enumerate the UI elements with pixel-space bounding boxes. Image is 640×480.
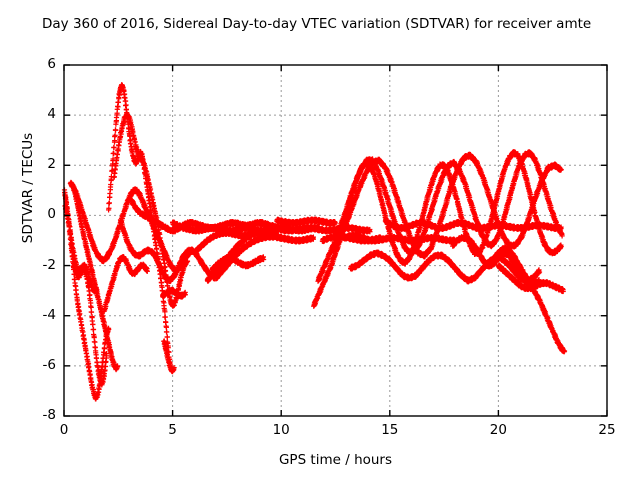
y-tick-label: 0 bbox=[16, 206, 56, 222]
y-tick-label: 4 bbox=[16, 106, 56, 122]
y-tick-label: -2 bbox=[16, 257, 56, 273]
y-tick-label: -4 bbox=[16, 307, 56, 323]
data-points bbox=[62, 82, 567, 402]
plot-canvas bbox=[0, 0, 640, 480]
y-tick-label: 6 bbox=[16, 56, 56, 72]
x-tick-label: 15 bbox=[370, 422, 410, 438]
y-tick-label: -6 bbox=[16, 357, 56, 373]
x-axis-label: GPS time / hours bbox=[64, 452, 607, 468]
y-tick-label: -8 bbox=[16, 407, 56, 423]
x-tick-label: 0 bbox=[44, 422, 84, 438]
x-tick-label: 10 bbox=[261, 422, 301, 438]
x-tick-label: 25 bbox=[587, 422, 627, 438]
x-tick-label: 20 bbox=[478, 422, 518, 438]
plot-root: Day 360 of 2016, Sidereal Day-to-day VTE… bbox=[0, 0, 640, 480]
x-tick-label: 5 bbox=[153, 422, 193, 438]
y-tick-label: 2 bbox=[16, 156, 56, 172]
chart-title: Day 360 of 2016, Sidereal Day-to-day VTE… bbox=[42, 16, 591, 32]
